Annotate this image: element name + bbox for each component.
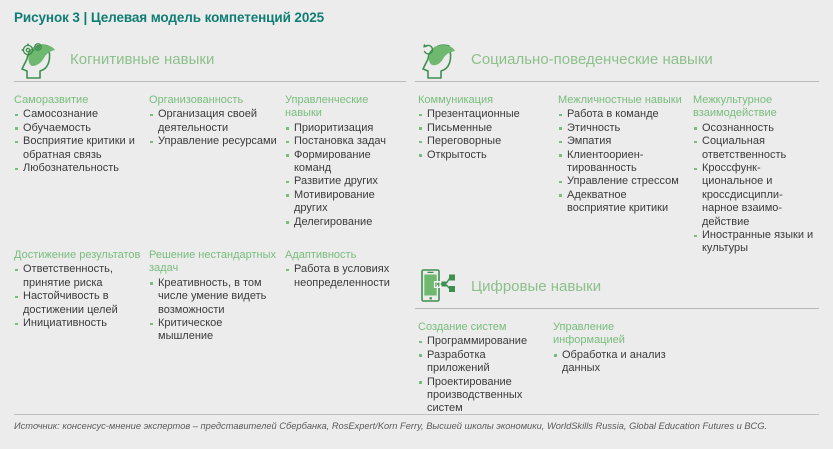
section-divider-cognitive [14,81,406,82]
column-title: Коммуникация [418,94,548,107]
list-item: Разработка приложений [418,349,548,376]
list-item: Постановка задач [285,135,405,148]
column-reshenie: Решение нестандартных задач Креативность… [149,249,277,344]
column-title: Достижение результатов [14,249,144,262]
column-adaptivnost: Адаптивность Работа в условиях неопредел… [285,249,407,290]
list-item: Мотивирование других [285,189,405,216]
column-list: Самосознание Обучаемость Восприятие крит… [14,108,144,175]
column-sozdanie-sistem: Создание систем Программирование Разрабо… [418,321,548,416]
section-digital: Цифровые навыки [415,265,819,309]
list-item: Настойчивость в достижении целей [14,290,144,317]
source-note: Источник: консенсус-мнение экспертов – п… [14,421,767,431]
list-item: Креативность, в том числе умение видеть … [149,277,277,317]
column-title: Решение нестандартных задач [149,249,277,276]
section-divider-social [415,81,819,82]
list-item: Переговорные [418,135,548,148]
section-title-social: Социально-поведенческие навыки [471,51,713,68]
list-item: Развитие других [285,175,405,188]
column-upravlencheskie: Управленческие навыки Приоритизация Пост… [285,94,405,229]
list-item: Эмпатия [558,135,684,148]
section-header-cognitive: Когнитивные навыки [14,38,406,82]
list-item: Любознательность [14,162,144,175]
list-item: Кроссфунк-циональное и кроссдисципли-нар… [693,162,819,229]
column-list: Программирование Разработка приложений П… [418,335,548,415]
list-item: Организация своей деятельности [149,108,277,135]
section-social: Социально-поведенческие навыки [415,38,819,82]
list-item: Социальная ответственность [693,135,819,162]
column-title: Организованность [149,94,277,107]
section-cognitive: Когнитивные навыки [14,38,406,82]
mobile-network-icon [415,265,467,309]
list-item: Клиентоориен-тированность [558,149,684,176]
section-header-digital: Цифровые навыки [415,265,819,309]
column-title: Управление информацией [553,321,683,348]
column-mezhlichnostnye: Межличностные навыки Работа в команде Эт… [558,94,684,216]
head-gears-icon [14,38,66,82]
column-kommunikaciya: Коммуникация Презентационные Письменные … [418,94,548,162]
list-item: Иностранные языки и культуры [693,229,819,256]
column-title: Саморазвитие [14,94,144,107]
head-refresh-icon [415,38,467,82]
section-header-social: Социально-поведенческие навыки [415,38,819,82]
section-title-cognitive: Когнитивные навыки [70,51,214,68]
column-list: Работа в условиях неопределенности [285,263,407,290]
list-item: Восприятие критики и обратная связь [14,135,144,162]
list-item: Работа в команде [558,108,684,121]
column-dostizhenie: Достижение результатов Ответственность, … [14,249,144,330]
list-item: Управление стрессом [558,175,684,188]
column-title: Межкультурное взаимодействие [693,94,819,121]
list-item: Адекватное восприятие критики [558,189,684,216]
column-list: Организация своей деятельности Управлени… [149,108,277,148]
column-upravlenie-informaciey: Управление информацией Обработка и анали… [553,321,683,376]
column-list: Работа в команде Этичность Эмпатия Клиен… [558,108,684,215]
footer-divider [14,414,819,415]
list-item: Инициативность [14,317,144,330]
figure-canvas: Рисунок 3 | Целевая модель компетенций 2… [0,0,833,449]
list-item: Осознанность [693,122,819,135]
list-item: Этичность [558,122,684,135]
column-samorazvitie: Саморазвитие Самосознание Обучаемость Во… [14,94,144,175]
list-item: Самосознание [14,108,144,121]
list-item: Приоритизация [285,122,405,135]
column-title: Создание систем [418,321,548,334]
list-item: Письменные [418,122,548,135]
column-list: Ответственность, принятие риска Настойчи… [14,263,144,330]
column-title: Адаптивность [285,249,407,262]
list-item: Открытость [418,149,548,162]
list-item: Делегирование [285,216,405,229]
page-title: Рисунок 3 | Целевая модель компетенций 2… [14,10,324,25]
section-title-digital: Цифровые навыки [471,278,601,295]
list-item: Критическое мышление [149,317,277,344]
list-item: Управление ресурсами [149,135,277,148]
list-item: Ответственность, принятие риска [14,263,144,290]
column-mezhkulturnoe: Межкультурное взаимодействие Осознанност… [693,94,819,256]
column-list: Креативность, в том числе умение видеть … [149,277,277,344]
section-divider-digital [415,308,819,309]
column-organizovannost: Организованность Организация своей деяте… [149,94,277,149]
column-title: Межличностные навыки [558,94,684,107]
list-item: Обучаемость [14,122,144,135]
column-list: Обработка и анализ данных [553,349,683,376]
column-list: Презентационные Письменные Переговорные … [418,108,548,162]
column-list: Осознанность Социальная ответственность … [693,122,819,256]
list-item: Презентационные [418,108,548,121]
column-title: Управленческие навыки [285,94,405,121]
list-item: Работа в условиях неопределенности [285,263,407,290]
list-item: Проектирование производственных систем [418,376,548,416]
column-list: Приоритизация Постановка задач Формирова… [285,122,405,229]
list-item: Формирование команд [285,149,405,176]
list-item: Программирование [418,335,548,348]
list-item: Обработка и анализ данных [553,349,683,376]
